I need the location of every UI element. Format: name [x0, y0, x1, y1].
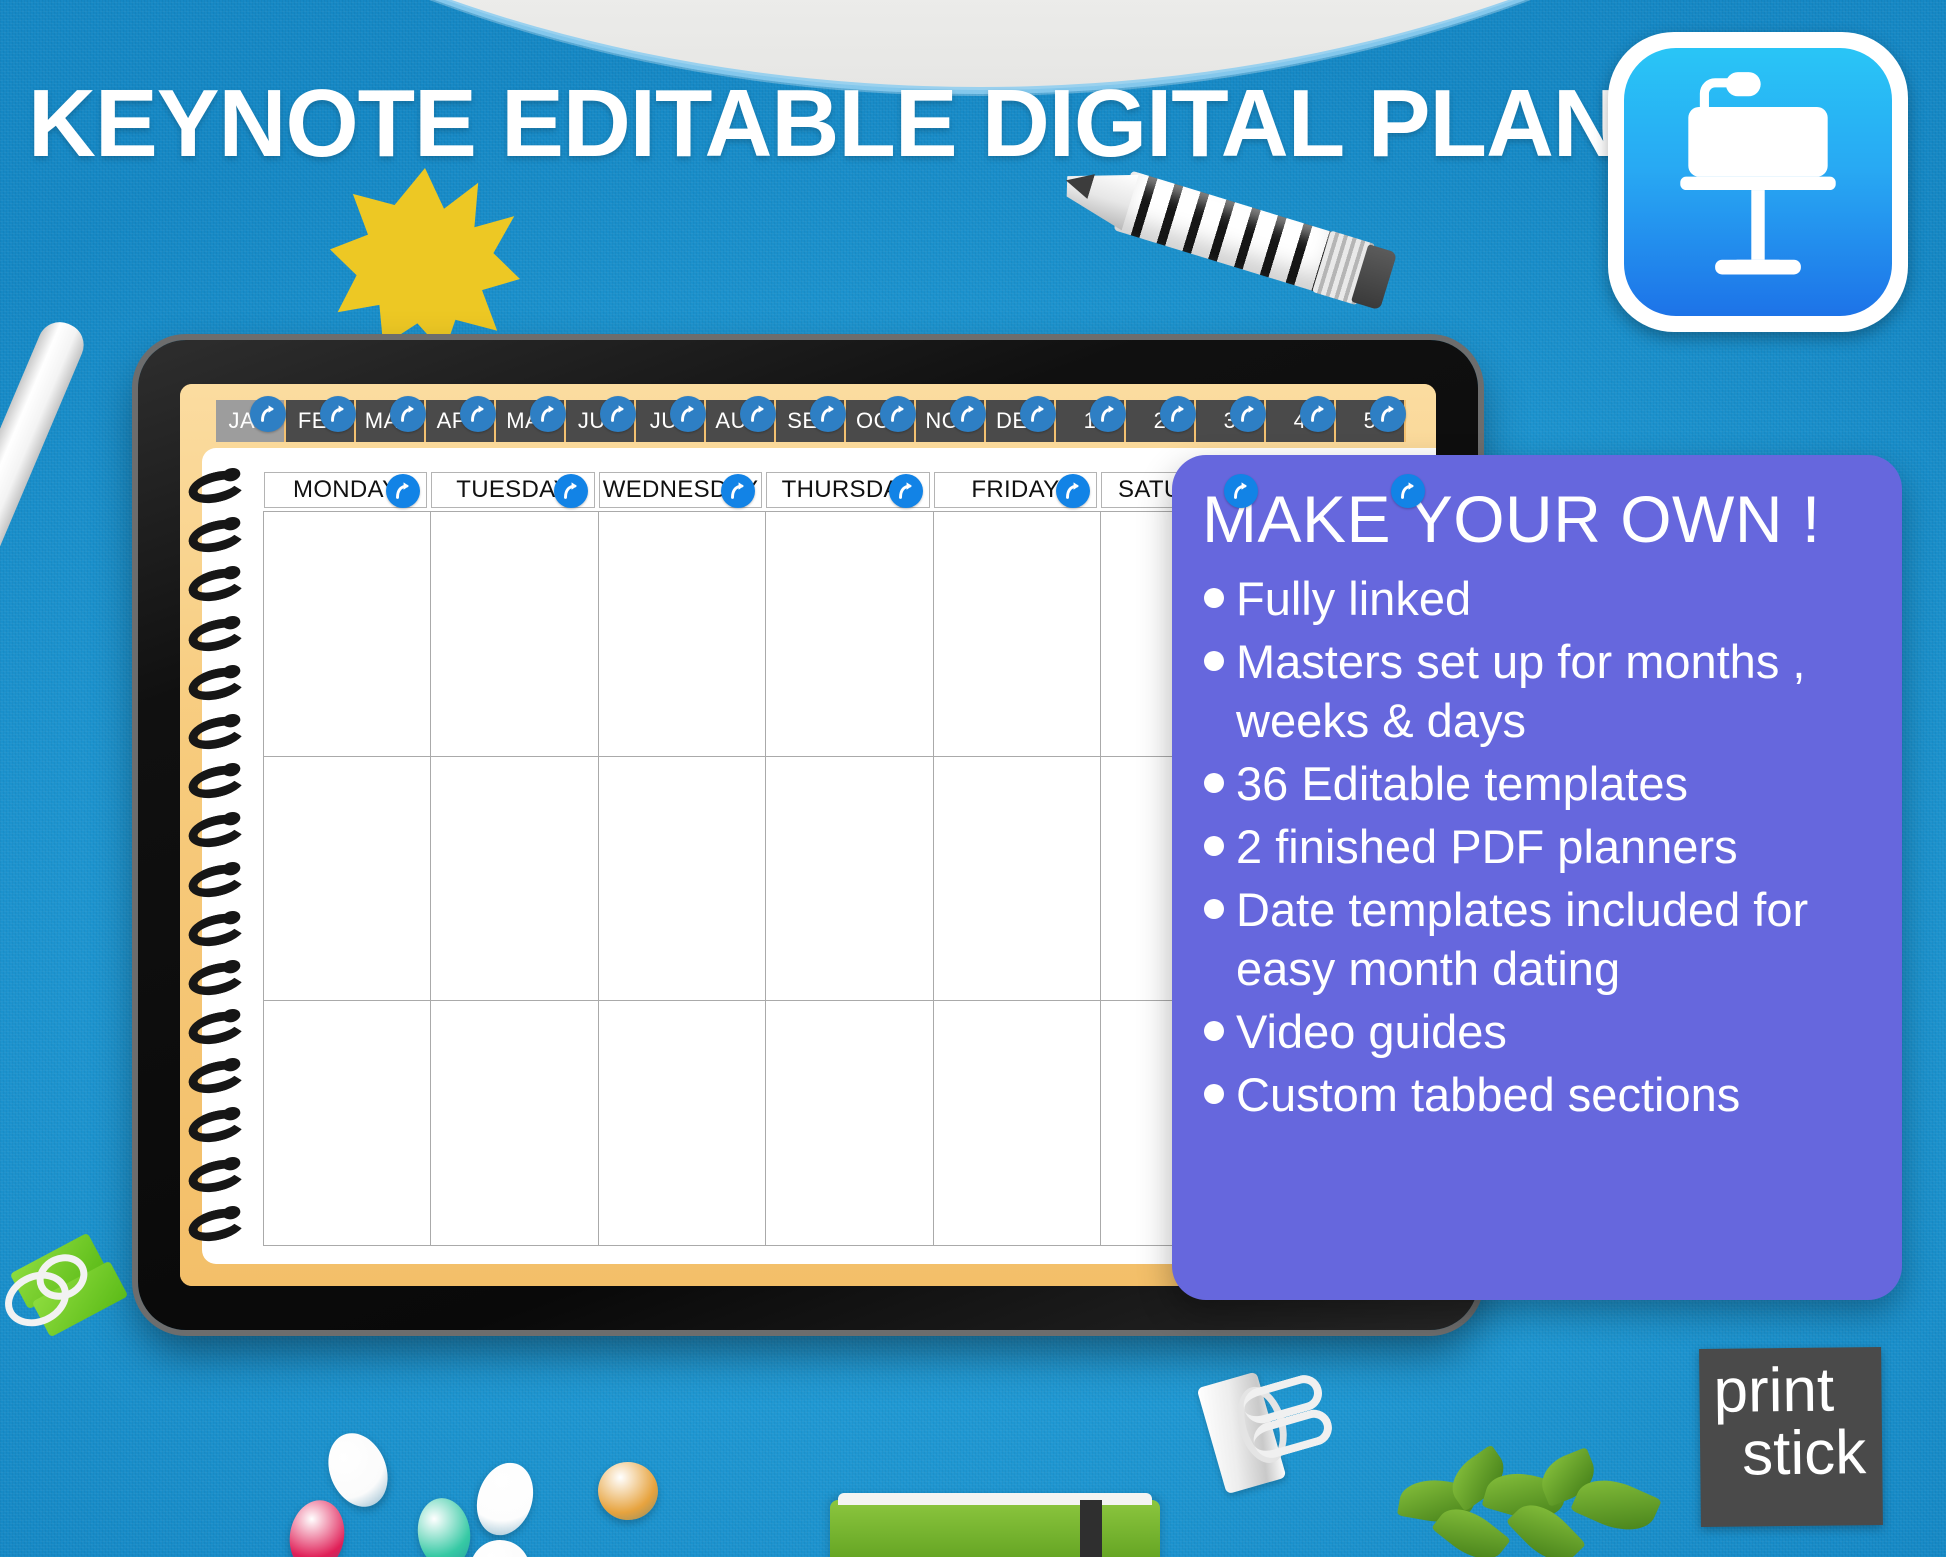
- green-notebook: [830, 1500, 1160, 1557]
- tab-nov[interactable]: NOV: [916, 400, 986, 442]
- tab-apr[interactable]: APR: [426, 400, 496, 442]
- weekday-label: TUESDAY: [456, 476, 570, 504]
- tab-5[interactable]: 5: [1336, 400, 1406, 442]
- plant-leaves: [1390, 1452, 1690, 1557]
- tab-4[interactable]: 4: [1266, 400, 1336, 442]
- spiral-ring: [185, 859, 249, 902]
- link-arrow-icon[interactable]: [889, 474, 923, 508]
- tab-mar[interactable]: MAR: [356, 400, 426, 442]
- spiral-ring: [185, 465, 249, 508]
- feature-item: 2 finished PDF planners: [1202, 817, 1868, 876]
- green-binder-clip: [10, 1243, 130, 1353]
- feature-item: 36 Editable templates: [1202, 754, 1868, 813]
- logo-line-stick: stick: [1714, 1421, 1869, 1487]
- curved-arrow-glyph: [727, 480, 749, 502]
- feature-item: Fully linked: [1202, 569, 1868, 628]
- link-arrow-icon[interactable]: [810, 396, 846, 432]
- spiral-ring: [185, 1105, 249, 1148]
- page-title: KEYNOTE EDITABLE DIGITAL PLANNER: [28, 70, 1576, 180]
- feature-item-label: Masters set up for months , weeks & days: [1236, 632, 1868, 750]
- spiral-binding: [188, 462, 252, 1250]
- calendar-cell[interactable]: [430, 756, 598, 1002]
- calendar-cell[interactable]: [598, 1000, 766, 1246]
- feature-item-label: 2 finished PDF planners: [1236, 817, 1868, 876]
- tab-jul[interactable]: JUL: [636, 400, 706, 442]
- bullet-dot-icon: [1204, 773, 1224, 793]
- calendar-cell[interactable]: [598, 511, 766, 757]
- link-arrow-icon[interactable]: [740, 396, 776, 432]
- calendar-cell[interactable]: [263, 1000, 431, 1246]
- curved-arrow-glyph: [257, 403, 279, 425]
- calendar-cell[interactable]: [765, 511, 933, 757]
- link-arrow-icon[interactable]: [320, 396, 356, 432]
- weekday-header-monday[interactable]: MONDAY: [264, 472, 427, 508]
- curved-arrow-glyph: [467, 403, 489, 425]
- calendar-cell[interactable]: [933, 511, 1101, 757]
- link-arrow-icon[interactable]: [390, 396, 426, 432]
- tab-1[interactable]: 1: [1056, 400, 1126, 442]
- curved-arrow-glyph: [392, 480, 414, 502]
- tab-feb[interactable]: FEB: [286, 400, 356, 442]
- spiral-ring: [185, 662, 249, 705]
- feature-panel: MAKE YOUR OWN ! Fully linkedMasters set …: [1172, 455, 1902, 1300]
- curved-arrow-glyph: [537, 403, 559, 425]
- link-arrow-icon[interactable]: [880, 396, 916, 432]
- link-arrow-icon[interactable]: [1160, 396, 1196, 432]
- calendar-cell[interactable]: [430, 511, 598, 757]
- curved-arrow-glyph: [747, 403, 769, 425]
- weekday-label: MONDAY: [293, 476, 398, 504]
- feature-item-label: Video guides: [1236, 1002, 1868, 1061]
- spiral-ring: [185, 1154, 249, 1197]
- curved-arrow-glyph: [1027, 403, 1049, 425]
- tab-jun[interactable]: JUN: [566, 400, 636, 442]
- curved-arrow-glyph: [1230, 480, 1252, 502]
- weekday-label: FRIDAY: [971, 476, 1059, 504]
- link-arrow-icon[interactable]: [1020, 396, 1056, 432]
- weekday-header-tuesday[interactable]: TUESDAY: [431, 472, 594, 508]
- bullet-dot-icon: [1204, 1084, 1224, 1104]
- link-arrow-icon[interactable]: [386, 474, 420, 508]
- curved-arrow-glyph: [1237, 403, 1259, 425]
- tab-2[interactable]: 2: [1126, 400, 1196, 442]
- curved-arrow-glyph: [607, 403, 629, 425]
- link-arrow-icon[interactable]: [600, 396, 636, 432]
- link-arrow-icon[interactable]: [530, 396, 566, 432]
- feature-item: Masters set up for months , weeks & days: [1202, 632, 1868, 750]
- calendar-cell[interactable]: [765, 1000, 933, 1246]
- tab-sep[interactable]: SEP: [776, 400, 846, 442]
- curved-arrow-glyph: [397, 403, 419, 425]
- curved-arrow-glyph: [1167, 403, 1189, 425]
- link-arrow-icon[interactable]: [554, 474, 588, 508]
- feature-panel-title: MAKE YOUR OWN !: [1202, 481, 1868, 557]
- calendar-cell[interactable]: [263, 511, 431, 757]
- bullet-dot-icon: [1204, 899, 1224, 919]
- month-tab-bar[interactable]: JANFEBMARAPRMAYJUNJULAUGSEPOCTNOVDEC1234…: [216, 400, 1436, 442]
- curved-arrow-glyph: [1307, 403, 1329, 425]
- tab-3[interactable]: 3: [1196, 400, 1266, 442]
- link-arrow-icon[interactable]: [1056, 474, 1090, 508]
- link-arrow-icon[interactable]: [460, 396, 496, 432]
- tab-dec[interactable]: DEC: [986, 400, 1056, 442]
- curved-arrow-glyph: [1097, 403, 1119, 425]
- weekday-header-thursday[interactable]: THURSDAY: [766, 472, 929, 508]
- feature-item-label: Fully linked: [1236, 569, 1868, 628]
- curved-arrow-glyph: [1377, 403, 1399, 425]
- link-arrow-icon[interactable]: [670, 396, 706, 432]
- calendar-cell[interactable]: [598, 756, 766, 1002]
- bullet-dot-icon: [1204, 588, 1224, 608]
- spiral-ring: [185, 810, 249, 853]
- spiral-ring: [185, 908, 249, 951]
- feature-list: Fully linkedMasters set up for months , …: [1202, 569, 1868, 1124]
- link-arrow-icon[interactable]: [250, 396, 286, 432]
- curved-arrow-glyph: [957, 403, 979, 425]
- curved-arrow-glyph: [895, 480, 917, 502]
- notebook-elastic-strap: [1080, 1500, 1102, 1557]
- presentation-easel-icon: [1624, 48, 1892, 316]
- link-arrow-icon[interactable]: [1090, 396, 1126, 432]
- tab-oct[interactable]: OCT: [846, 400, 916, 442]
- calendar-cell[interactable]: [933, 1000, 1101, 1246]
- curved-arrow-glyph: [817, 403, 839, 425]
- calendar-cell[interactable]: [263, 756, 431, 1002]
- curved-arrow-glyph: [560, 480, 582, 502]
- calendar-cell[interactable]: [765, 756, 933, 1002]
- notebook-pages: [838, 1493, 1152, 1505]
- tab-may[interactable]: MAY: [496, 400, 566, 442]
- spiral-ring: [185, 515, 249, 558]
- curved-arrow-glyph: [887, 403, 909, 425]
- feature-item: Date templates included for easy month d…: [1202, 880, 1868, 998]
- print-stick-logo: print stick: [1699, 1347, 1883, 1527]
- keynote-icon-gradient: [1624, 48, 1892, 316]
- keynote-app-icon: [1608, 32, 1908, 332]
- spiral-ring: [185, 1056, 249, 1099]
- spiral-ring: [185, 711, 249, 754]
- spiral-ring: [185, 957, 249, 1000]
- weekday-header-wednesday[interactable]: WEDNESDAY: [599, 472, 762, 508]
- spiral-ring: [185, 613, 249, 656]
- link-arrow-icon[interactable]: [950, 396, 986, 432]
- calendar-cell[interactable]: [933, 756, 1101, 1002]
- curved-arrow-glyph: [327, 403, 349, 425]
- tab-jan[interactable]: JAN: [216, 400, 286, 442]
- bullet-dot-icon: [1204, 1021, 1224, 1041]
- feature-item-label: 36 Editable templates: [1236, 754, 1868, 813]
- link-arrow-icon[interactable]: [1230, 396, 1266, 432]
- feature-item: Custom tabbed sections: [1202, 1065, 1868, 1124]
- bullet-dot-icon: [1204, 836, 1224, 856]
- curved-arrow-glyph: [677, 403, 699, 425]
- calendar-cell[interactable]: [430, 1000, 598, 1246]
- bullet-dot-icon: [1204, 651, 1224, 671]
- spiral-ring: [185, 564, 249, 607]
- weekday-header-friday[interactable]: FRIDAY: [934, 472, 1097, 508]
- link-arrow-icon[interactable]: [1391, 474, 1425, 508]
- curved-arrow-glyph: [1062, 480, 1084, 502]
- tab-aug[interactable]: AUG: [706, 400, 776, 442]
- logo-line-print: print: [1713, 1359, 1868, 1423]
- spiral-ring: [185, 761, 249, 804]
- link-arrow-icon[interactable]: [1224, 474, 1258, 508]
- link-arrow-icon[interactable]: [1300, 396, 1336, 432]
- feature-item-label: Custom tabbed sections: [1236, 1065, 1868, 1124]
- feature-item-label: Date templates included for easy month d…: [1236, 880, 1868, 998]
- link-arrow-icon[interactable]: [1370, 396, 1406, 432]
- feature-item: Video guides: [1202, 1002, 1868, 1061]
- spiral-ring: [185, 1203, 249, 1246]
- curved-arrow-glyph: [1397, 480, 1419, 502]
- spiral-ring: [185, 1006, 249, 1049]
